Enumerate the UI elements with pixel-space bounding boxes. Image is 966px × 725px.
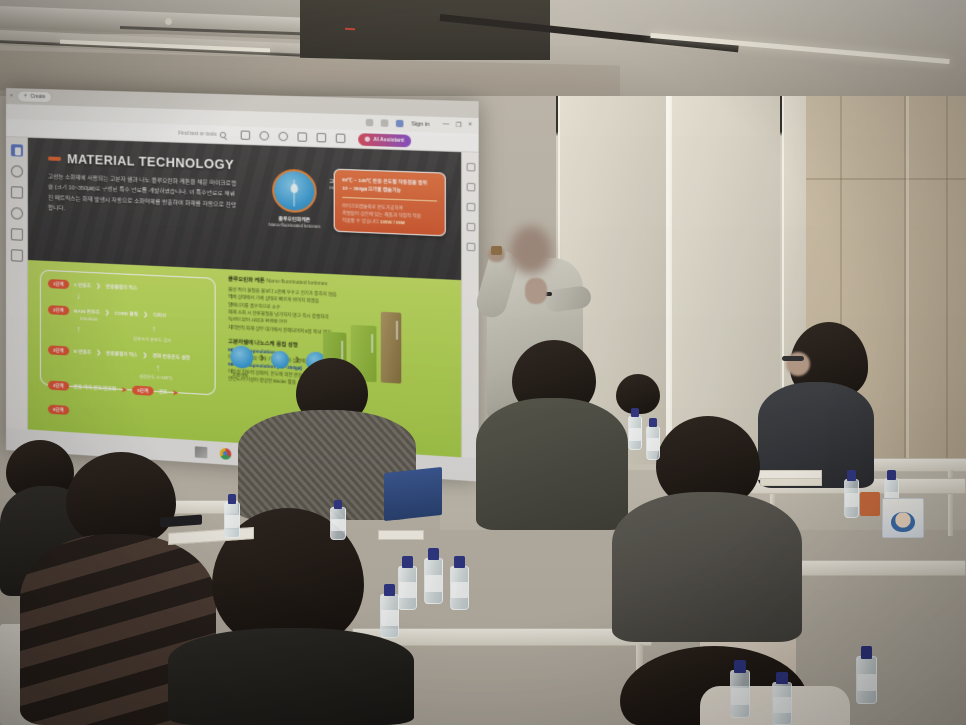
export-icon[interactable] [466,163,475,172]
capsule-circle-icon [271,350,289,368]
capsule-circle-icon [230,345,253,369]
up-arrow-icon: ↑ [156,364,161,373]
chevron-right-icon: ❯ [143,352,148,358]
ai-assistant-label: AI Assistant [373,136,404,143]
up-arrow-icon: ↑ [76,325,81,334]
water-bottle [730,660,750,718]
product-cabinet-wood [381,312,402,384]
chevron-right-icon: ❯ [96,283,101,289]
close-icon[interactable]: × [468,122,472,129]
eyeglasses-icon [782,356,804,361]
stacked-documents [760,478,822,486]
presenter-head-blurred [510,226,552,274]
step-2-pill: 2단계 [48,305,69,315]
sample-object [491,246,502,255]
step-2-text2: CORE 물질 [115,310,139,317]
step-4-text: 반응 마치 분리/건조화 [74,384,116,393]
find-input[interactable]: Find text or tools [178,130,226,138]
attendee-olive-jacket-body [476,398,628,530]
water-bottle [330,500,346,540]
step-2-text: MAIN 반응조 [74,308,100,315]
droplet-icon [291,184,298,194]
sparkle-icon [365,136,370,141]
history-icon[interactable] [366,119,374,127]
step-5-text: 건조 [159,389,168,396]
arrow-right-icon: ➤ [172,389,178,398]
water-bottle [424,548,443,604]
temperature-callout: 90℃ ~ 140℃ 반응 온도별 작동점을 범위 10 ~ 350㎛ 크기별 … [334,169,446,237]
tab-close-icon[interactable]: × [10,93,13,99]
water-bottle [628,408,642,450]
windows-icon[interactable] [194,446,206,458]
tissue-box [882,498,924,538]
chevron-right-icon: ❯ [260,355,265,361]
find-placeholder: Find text or tools [178,130,216,137]
step-4-pill: 4단계 [48,381,69,391]
badge-caption-title: 플루오린화케톤 [278,216,310,222]
conference-room-photo: × + Create Sign in — ❐ × Find text or to… [0,0,966,725]
right-heading-1-en: Nano-fluorinated ketones [266,278,327,287]
save-icon[interactable] [336,133,346,143]
highlight-icon[interactable] [260,131,269,141]
chrome-icon[interactable] [219,447,230,459]
step-1-text2: 반응물질의 믹스 [106,284,137,292]
comment-bubble-icon[interactable] [10,207,22,220]
water-bottle [380,584,399,638]
step-3-text: B 반응조 [74,349,91,356]
stamp-icon[interactable] [10,249,22,262]
water-bottle [224,494,240,538]
chevron-right-icon: ❯ [143,312,148,318]
small-package [860,492,880,516]
chevron-right-icon: ❯ [295,357,300,363]
zoom-icon[interactable] [10,165,22,177]
hero-paragraph: 고성능 소화제에 사용되는 고분자 쉘과 나노 플루오린화 케톤을 채운 마이크… [48,173,238,222]
step-3-text3: 경화 반응온도 설정 [152,353,189,361]
callout-divider [342,196,437,201]
rotate-icon[interactable] [297,132,307,142]
slide-hero-section: MATERIAL TECHNOLOGY 고성능 소화제에 사용되는 고분자 쉘과… [28,138,461,281]
step-2-text3: 디퍼서 [153,312,166,319]
water-bottle [450,556,469,610]
pen-icon[interactable] [10,186,22,198]
slide-title-row: MATERIAL TECHNOLOGY [48,151,234,172]
water-bottle [398,556,417,610]
protect-icon[interactable] [466,223,475,232]
down-arrow-icon: ↑ [76,292,81,301]
water-bottle [856,646,877,704]
title-dash-icon [48,156,61,160]
badge-caption: 플루오린화케톤 Nano-fluorinated ketones [255,215,333,231]
step-3-pill: 3단계 [48,346,69,356]
arrow-right-icon: ➤ [121,386,127,394]
maximize-icon[interactable]: ❐ [456,122,462,130]
page-title: MATERIAL TECHNOLOGY [67,152,234,172]
step-1-pill: 1단계 [48,279,69,289]
compress-icon[interactable] [466,203,475,212]
page-icon[interactable] [241,130,250,140]
ai-assistant-button[interactable]: AI Assistant [358,133,411,147]
link-icon[interactable] [317,133,327,143]
badge-caption-sub: Nano-fluorinated ketones [255,222,333,231]
process-caption: 소화약제 [232,372,247,379]
water-bottle [772,672,792,725]
page-thumbnail-icon[interactable] [10,144,22,156]
up-arrow-icon: ↑ [152,325,157,334]
attendee-grey-sweater-body [612,492,802,642]
apps-icon[interactable] [396,120,404,128]
plus-icon: + [24,94,28,100]
flow-step-6: 6단계 [48,405,69,416]
nano-badge: 고온팽창 High altitude swell 플루오린화케톤 Nano-fl… [255,168,333,231]
blue-laptop [384,467,442,521]
blue-droplet-circle-icon [272,168,316,213]
text-box-icon[interactable] [10,228,22,241]
callout-highlight: 100W / 08M [380,220,405,226]
step-5-pill: 5단계 [132,386,153,397]
chevron-right-icon: ❯ [105,310,110,316]
more-tools-icon[interactable] [466,243,475,252]
search-icon [220,131,226,137]
projected-screen: × + Create Sign in — ❐ × Find text or to… [6,88,479,482]
presenter-open-hand [525,278,547,304]
step-1-text: A 반응조 [74,282,91,289]
right-heading-1-ko: 플루오린화 케톤 [228,277,265,285]
water-bottle [646,418,660,460]
bookmark-icon[interactable] [381,119,389,127]
step-3-text2: 반응물질의 믹스 [106,350,137,358]
notebook [378,530,424,540]
step-2-sub: Emulsion [80,316,97,322]
sign-in-link[interactable]: Sign in [411,121,429,128]
water-bottle [844,470,859,518]
organize-icon[interactable] [466,183,475,192]
tab-label: Create [30,94,45,100]
attendee-striped-head [66,452,176,546]
callout-line-5: 적용할 수 있습니다 [342,218,378,225]
attendee-center-front-body [168,628,414,725]
chevron-right-icon: ❯ [96,350,101,356]
acrobat-left-toolbar [6,137,28,429]
minimize-icon[interactable]: — [443,121,450,129]
step-6-pill: 6단계 [48,405,69,416]
pdf-slide: MATERIAL TECHNOLOGY 고성능 소화제에 사용되는 고분자 쉘과… [28,138,461,458]
tab-create[interactable]: + Create [17,90,53,103]
comment-icon[interactable] [278,132,287,142]
cartoon-character-icon [891,512,915,533]
